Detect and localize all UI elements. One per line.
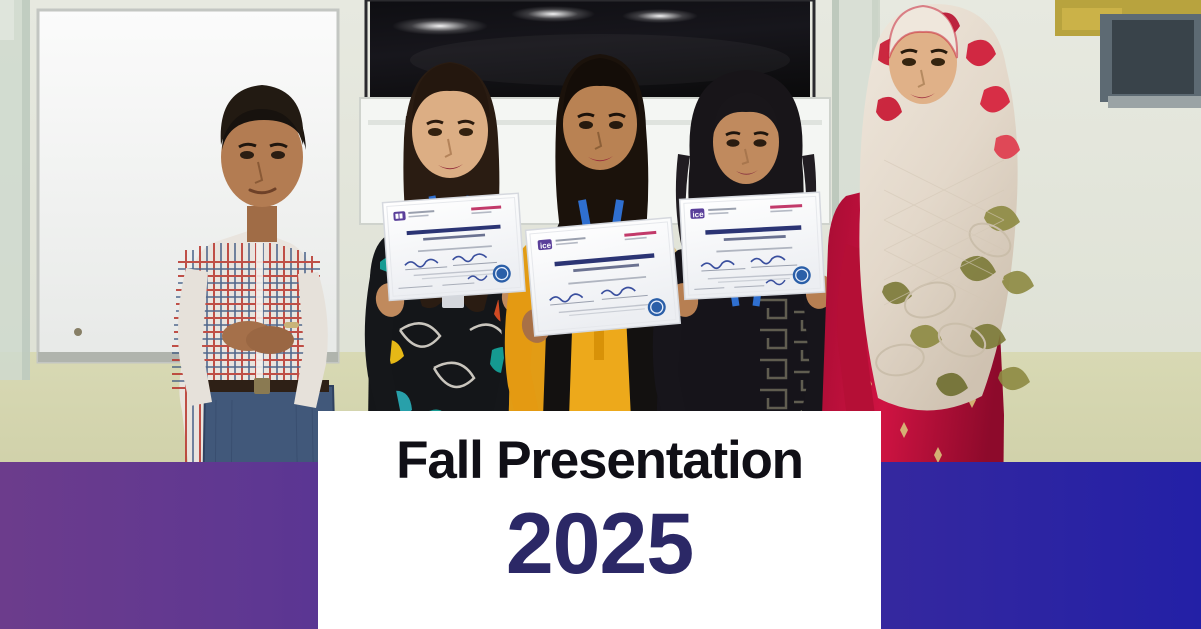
certificate-1 xyxy=(383,193,526,300)
year-label: 2025 xyxy=(506,501,693,587)
certificate-2: ice xyxy=(526,218,681,336)
title-card: Fall Presentation 2025 xyxy=(318,411,881,629)
certificate-3: ice xyxy=(680,192,825,299)
poster-canvas: ice xyxy=(0,0,1201,629)
svg-text:ice: ice xyxy=(692,210,704,220)
svg-text:ice: ice xyxy=(540,241,552,251)
page-title: Fall Presentation xyxy=(396,433,803,489)
